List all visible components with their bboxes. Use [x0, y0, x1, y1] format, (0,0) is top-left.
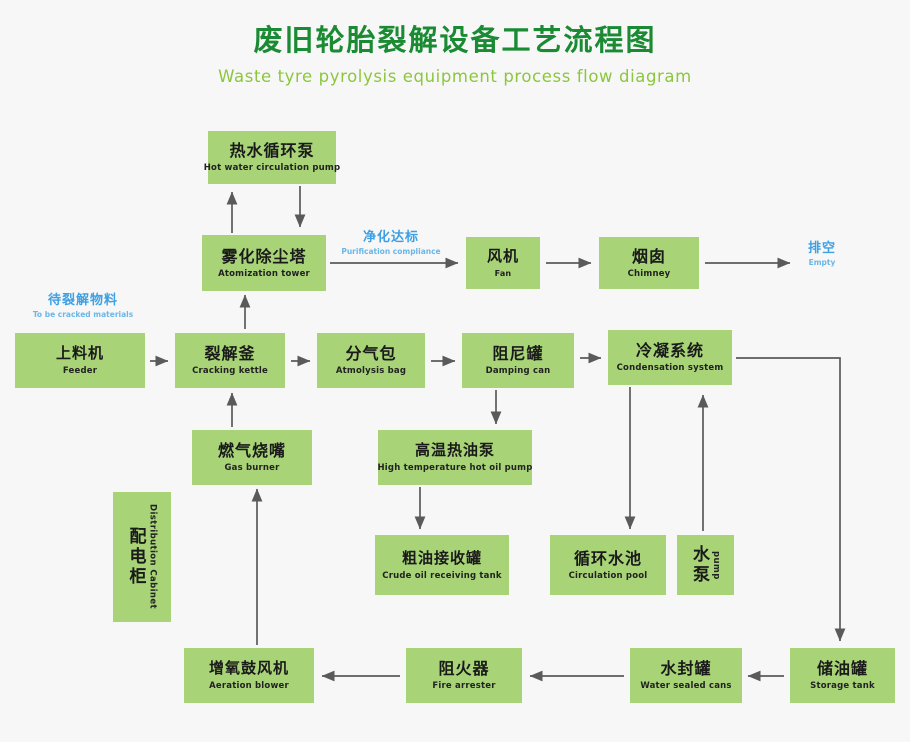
- node-label-en: pump: [710, 551, 722, 580]
- node-label-en: Water sealed cans: [640, 680, 731, 692]
- node-label-cn: 烟囱: [632, 247, 666, 266]
- node-label-cn: 裂解釜: [204, 344, 255, 363]
- node-aeration_blower[interactable]: 增氧鼓风机Aeration blower: [184, 648, 314, 703]
- node-label-cn: 分气包: [345, 344, 396, 363]
- node-water_pump[interactable]: 水泵pump: [677, 535, 734, 595]
- node-damping_can[interactable]: 阻尼罐Damping can: [462, 333, 574, 388]
- node-label-cn: 热水循环泵: [229, 141, 314, 160]
- node-label-en: Storage tank: [810, 680, 875, 692]
- node-label-cn: 增氧鼓风机: [209, 659, 289, 678]
- page-title-cn: 废旧轮胎裂解设备工艺流程图: [0, 20, 910, 60]
- node-fire_arrester[interactable]: 阻火器Fire arrester: [406, 648, 522, 703]
- node-label-cn: 水封罐: [660, 659, 711, 678]
- node-label-en: High temperature hot oil pump: [377, 462, 532, 474]
- node-label-en: Aeration blower: [209, 680, 289, 692]
- node-label-cn: 配电柜: [126, 527, 145, 587]
- node-label-cn: 阻尼罐: [492, 344, 543, 363]
- node-atmolysis_bag[interactable]: 分气包Atmolysis bag: [317, 333, 425, 388]
- node-condensation[interactable]: 冷凝系统Condensation system: [608, 330, 732, 385]
- diagram-header: 废旧轮胎裂解设备工艺流程图 Waste tyre pyrolysis equip…: [0, 20, 910, 90]
- node-gas_burner[interactable]: 燃气烧嘴Gas burner: [192, 430, 312, 485]
- node-label-cn: 高温热油泵: [415, 441, 495, 460]
- node-feeder[interactable]: 上料机Feeder: [15, 333, 145, 388]
- node-cracking_kettle[interactable]: 裂解釜Cracking kettle: [175, 333, 285, 388]
- node-water_sealed[interactable]: 水封罐Water sealed cans: [630, 648, 742, 703]
- node-label-cn: 水泵: [689, 545, 708, 585]
- node-hot_water_pump[interactable]: 热水循环泵Hot water circulation pump: [208, 131, 336, 184]
- node-label-en: Condensation system: [617, 362, 724, 374]
- node-label-cn: 雾化除尘塔: [221, 247, 306, 266]
- node-label-en: Fan: [495, 268, 512, 280]
- node-distribution[interactable]: 配电柜Distribution Cabinet: [113, 492, 171, 622]
- annotation-label-cn: 净化达标: [341, 230, 441, 246]
- node-label-en: Crude oil receiving tank: [382, 570, 501, 582]
- annotation-to_be_cracked: 待裂解物料To be cracked materials: [28, 293, 138, 320]
- node-storage_tank[interactable]: 储油罐Storage tank: [790, 648, 895, 703]
- node-crude_oil_tank[interactable]: 粗油接收罐Crude oil receiving tank: [375, 535, 509, 595]
- node-label-en: Hot water circulation pump: [204, 162, 341, 174]
- edge-condensation-to-storagetank: [736, 358, 840, 641]
- node-label-cn: 储油罐: [817, 659, 868, 678]
- annotation-label-cn: 待裂解物料: [28, 293, 138, 309]
- node-label-cn: 冷凝系统: [636, 341, 704, 360]
- node-chimney[interactable]: 烟囱Chimney: [599, 237, 699, 289]
- node-label-en: Fire arrester: [432, 680, 495, 692]
- node-label-en: Atomization tower: [218, 268, 310, 280]
- node-label-en: Damping can: [486, 365, 551, 377]
- node-label-en: Gas burner: [224, 462, 279, 474]
- node-fan[interactable]: 风机Fan: [466, 237, 540, 289]
- node-label-en: Feeder: [63, 365, 97, 377]
- node-label-cn: 阻火器: [438, 659, 489, 678]
- page-title-en: Waste tyre pyrolysis equipment process f…: [0, 60, 910, 90]
- node-label-cn: 上料机: [56, 344, 104, 363]
- annotation-purification: 净化达标Purification compliance: [341, 230, 441, 257]
- annotation-label-en: To be cracked materials: [28, 309, 138, 320]
- annotation-label-cn: 排空: [795, 241, 849, 257]
- node-circulation_pool[interactable]: 循环水池Circulation pool: [550, 535, 666, 595]
- node-label-en: Chimney: [628, 268, 671, 280]
- annotation-label-en: Empty: [795, 257, 849, 268]
- node-label-cn: 循环水池: [574, 549, 642, 568]
- node-label-cn: 粗油接收罐: [402, 549, 482, 568]
- flow-diagram-canvas: 废旧轮胎裂解设备工艺流程图 Waste tyre pyrolysis equip…: [0, 0, 910, 742]
- annotation-empty: 排空Empty: [795, 241, 849, 268]
- node-label-cn: 风机: [487, 247, 519, 266]
- node-label-en: Atmolysis bag: [336, 365, 406, 377]
- node-label-cn: 燃气烧嘴: [218, 441, 286, 460]
- node-label-en: Circulation pool: [569, 570, 648, 582]
- node-atomization_tower[interactable]: 雾化除尘塔Atomization tower: [202, 235, 326, 291]
- node-label-en: Cracking kettle: [192, 365, 268, 377]
- node-label-en: Distribution Cabinet: [147, 504, 159, 609]
- annotation-label-en: Purification compliance: [341, 246, 441, 257]
- node-hot_oil_pump[interactable]: 高温热油泵High temperature hot oil pump: [378, 430, 532, 485]
